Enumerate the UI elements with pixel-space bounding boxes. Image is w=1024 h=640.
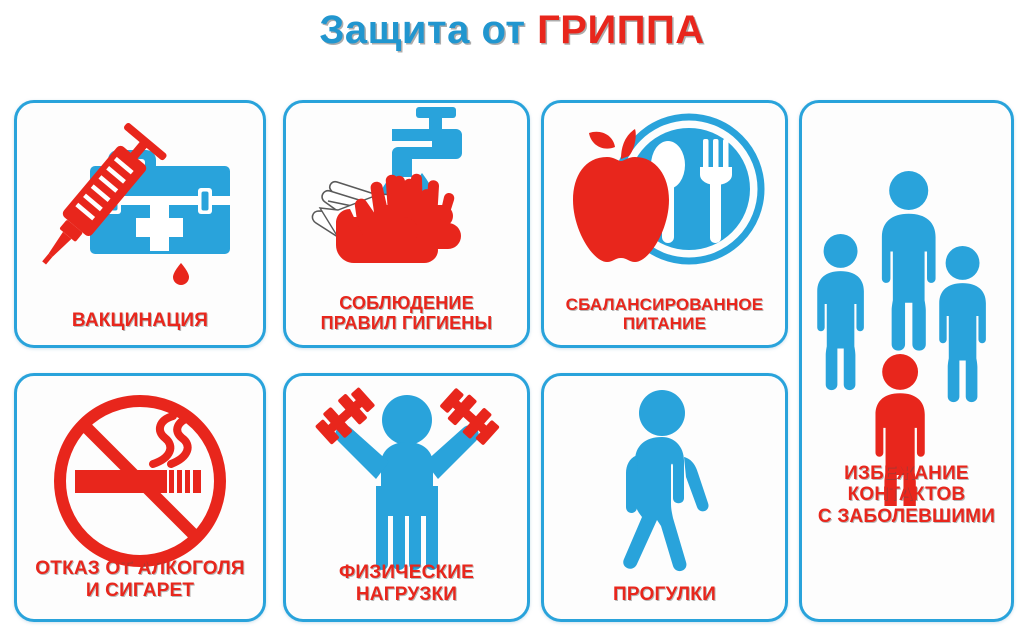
person-icon (881, 171, 935, 351)
nutrition-icon-group (555, 107, 775, 279)
card-label-nosmoking-line2: И СИГАРЕТ (21, 580, 259, 601)
smoke-icon (153, 416, 191, 464)
card-label-contacts-line2: КОНТАКТОВ (806, 484, 1007, 505)
card-nutrition[interactable]: СБАЛАНСИРОВАННОЕ ПИТАНИЕ (541, 100, 788, 348)
person-icon (817, 234, 864, 390)
card-exercise[interactable]: ФИЗИЧЕСКИЕ НАГРУЗКИ (283, 373, 530, 622)
card-label-hygiene-line2: ПРАВИЛ ГИГИЕНЫ (290, 313, 523, 333)
card-label-exercise-line2: НАГРУЗКИ (290, 584, 523, 605)
card-label-contacts-line1: ИЗБЕЖАНИЕ (806, 463, 1007, 484)
contacts-illustration (802, 111, 1011, 511)
title-red-part: ГРИППА (537, 8, 705, 52)
card-label-contacts-line3: С ЗАБОЛЕВШИМИ (806, 506, 1007, 527)
walking-illustration (544, 382, 785, 592)
card-label-nutrition-line2: ПИТАНИЕ (548, 314, 781, 333)
page-title: Защита от ГРИППА (0, 8, 1024, 53)
faucet-icon (392, 107, 462, 177)
card-label-nosmoking: ОТКАЗ ОТ АЛКОГОЛЯ И СИГАРЕТ (21, 558, 259, 601)
card-label-nosmoking-line1: ОТКАЗ ОТ АЛКОГОЛЯ (21, 558, 259, 579)
card-walking[interactable]: ПРОГУЛКИ (541, 373, 788, 622)
nosmoking-illustration (17, 384, 263, 574)
hygiene-icon-group (298, 105, 516, 283)
card-label-walking: ПРОГУЛКИ (548, 584, 781, 605)
card-label-nutrition: СБАЛАНСИРОВАННОЕ ПИТАНИЕ (548, 295, 781, 333)
card-label-exercise-line1: ФИЗИЧЕСКИЕ (290, 562, 523, 583)
card-label-vaccination: ВАКЦИНАЦИЯ (21, 310, 259, 331)
vaccination-icon-group (30, 106, 250, 296)
card-label-nutrition-line1: СБАЛАНСИРОВАННОЕ (548, 295, 781, 314)
card-hygiene[interactable]: СОБЛЮДЕНИЕ ПРАВИЛ ГИГИЕНЫ (283, 100, 530, 348)
blood-drop-icon (173, 263, 189, 285)
hands-washing-icon (312, 169, 461, 263)
vaccination-illustration (17, 103, 263, 299)
card-label-contacts: ИЗБЕЖАНИЕ КОНТАКТОВ С ЗАБОЛЕВШИМИ (806, 463, 1007, 527)
exercise-icon-group (307, 384, 507, 576)
card-label-hygiene: СОБЛЮДЕНИЕ ПРАВИЛ ГИГИЕНЫ (290, 293, 523, 333)
walking-person-icon (580, 387, 750, 587)
card-contacts[interactable]: ИЗБЕЖАНИЕ КОНТАКТОВ С ЗАБОЛЕВШИМИ (799, 100, 1014, 622)
exercise-illustration (286, 382, 527, 577)
hygiene-illustration (286, 103, 527, 285)
card-label-hygiene-line1: СОБЛЮДЕНИЕ (290, 293, 523, 313)
person-icon (939, 246, 986, 402)
nutrition-illustration (544, 103, 785, 283)
card-vaccination[interactable]: ВАКЦИНАЦИЯ (14, 100, 266, 348)
card-nosmoking[interactable]: ОТКАЗ ОТ АЛКОГОЛЯ И СИГАРЕТ (14, 373, 266, 622)
card-label-exercise: ФИЗИЧЕСКИЕ НАГРУЗКИ (290, 562, 523, 605)
no-smoking-icon (45, 386, 235, 572)
title-blue-part: Защита от (319, 8, 537, 52)
people-icon-group (807, 116, 1007, 506)
influenza-prevention-poster: Защита от ГРИППА (0, 0, 1024, 640)
